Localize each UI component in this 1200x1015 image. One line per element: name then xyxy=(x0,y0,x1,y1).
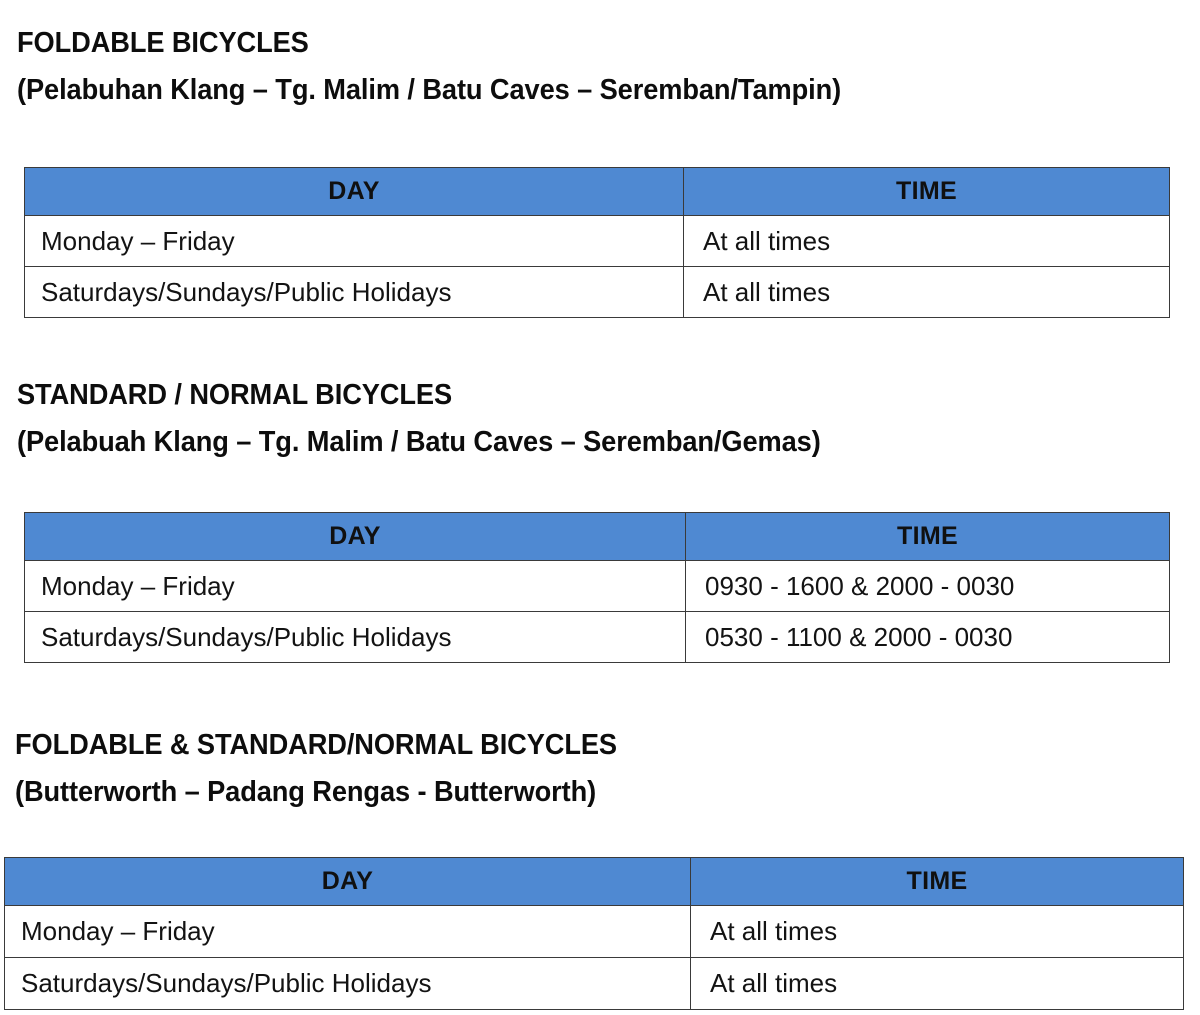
section-2-heading: STANDARD / NORMAL BICYCLES (Pelabuah Kla… xyxy=(17,372,1197,466)
section-3-route: (Butterworth – Padang Rengas - Butterwor… xyxy=(15,769,1142,816)
column-header-time: TIME xyxy=(691,858,1184,906)
table-row: Monday – Friday At all times xyxy=(25,216,1170,267)
column-header-day: DAY xyxy=(25,168,684,216)
schedule-table-foldable-and-standard-bicycles: DAY TIME Monday – Friday At all times Sa… xyxy=(4,857,1184,1010)
table-row: Monday – Friday At all times xyxy=(5,906,1184,958)
table-header-row: DAY TIME xyxy=(5,858,1184,906)
cell-time: 0530 - 1100 & 2000 - 0030 xyxy=(686,612,1170,663)
section-3-title: FOLDABLE & STANDARD/NORMAL BICYCLES xyxy=(15,722,1142,769)
section-1-heading: FOLDABLE BICYCLES (Pelabuhan Klang – Tg.… xyxy=(17,20,1197,114)
section-1-title: FOLDABLE BICYCLES xyxy=(17,20,1144,67)
column-header-day: DAY xyxy=(25,513,686,561)
cell-time: At all times xyxy=(691,906,1184,958)
table-row: Saturdays/Sundays/Public Holidays 0530 -… xyxy=(25,612,1170,663)
section-3-heading: FOLDABLE & STANDARD/NORMAL BICYCLES (But… xyxy=(15,722,1195,816)
cell-time: At all times xyxy=(691,958,1184,1010)
cell-time: 0930 - 1600 & 2000 - 0030 xyxy=(686,561,1170,612)
table-row: Saturdays/Sundays/Public Holidays At all… xyxy=(5,958,1184,1010)
table-header-row: DAY TIME xyxy=(25,513,1170,561)
schedule-table-foldable-bicycles: DAY TIME Monday – Friday At all times Sa… xyxy=(24,167,1170,318)
cell-day: Saturdays/Sundays/Public Holidays xyxy=(5,958,691,1010)
cell-day: Monday – Friday xyxy=(25,216,684,267)
section-2-title: STANDARD / NORMAL BICYCLES xyxy=(17,372,1144,419)
cell-day: Monday – Friday xyxy=(25,561,686,612)
schedule-table-standard-bicycles: DAY TIME Monday – Friday 0930 - 1600 & 2… xyxy=(24,512,1170,663)
table-row: Saturdays/Sundays/Public Holidays At all… xyxy=(25,267,1170,318)
cell-day: Monday – Friday xyxy=(5,906,691,958)
table-row: Monday – Friday 0930 - 1600 & 2000 - 003… xyxy=(25,561,1170,612)
section-1-route: (Pelabuhan Klang – Tg. Malim / Batu Cave… xyxy=(17,67,1144,114)
column-header-time: TIME xyxy=(684,168,1170,216)
column-header-day: DAY xyxy=(5,858,691,906)
section-2-route: (Pelabuah Klang – Tg. Malim / Batu Caves… xyxy=(17,419,1144,466)
column-header-time: TIME xyxy=(686,513,1170,561)
cell-time: At all times xyxy=(684,267,1170,318)
document-page: FOLDABLE BICYCLES (Pelabuhan Klang – Tg.… xyxy=(0,0,1200,1015)
cell-day: Saturdays/Sundays/Public Holidays xyxy=(25,612,686,663)
table-header-row: DAY TIME xyxy=(25,168,1170,216)
cell-day: Saturdays/Sundays/Public Holidays xyxy=(25,267,684,318)
cell-time: At all times xyxy=(684,216,1170,267)
